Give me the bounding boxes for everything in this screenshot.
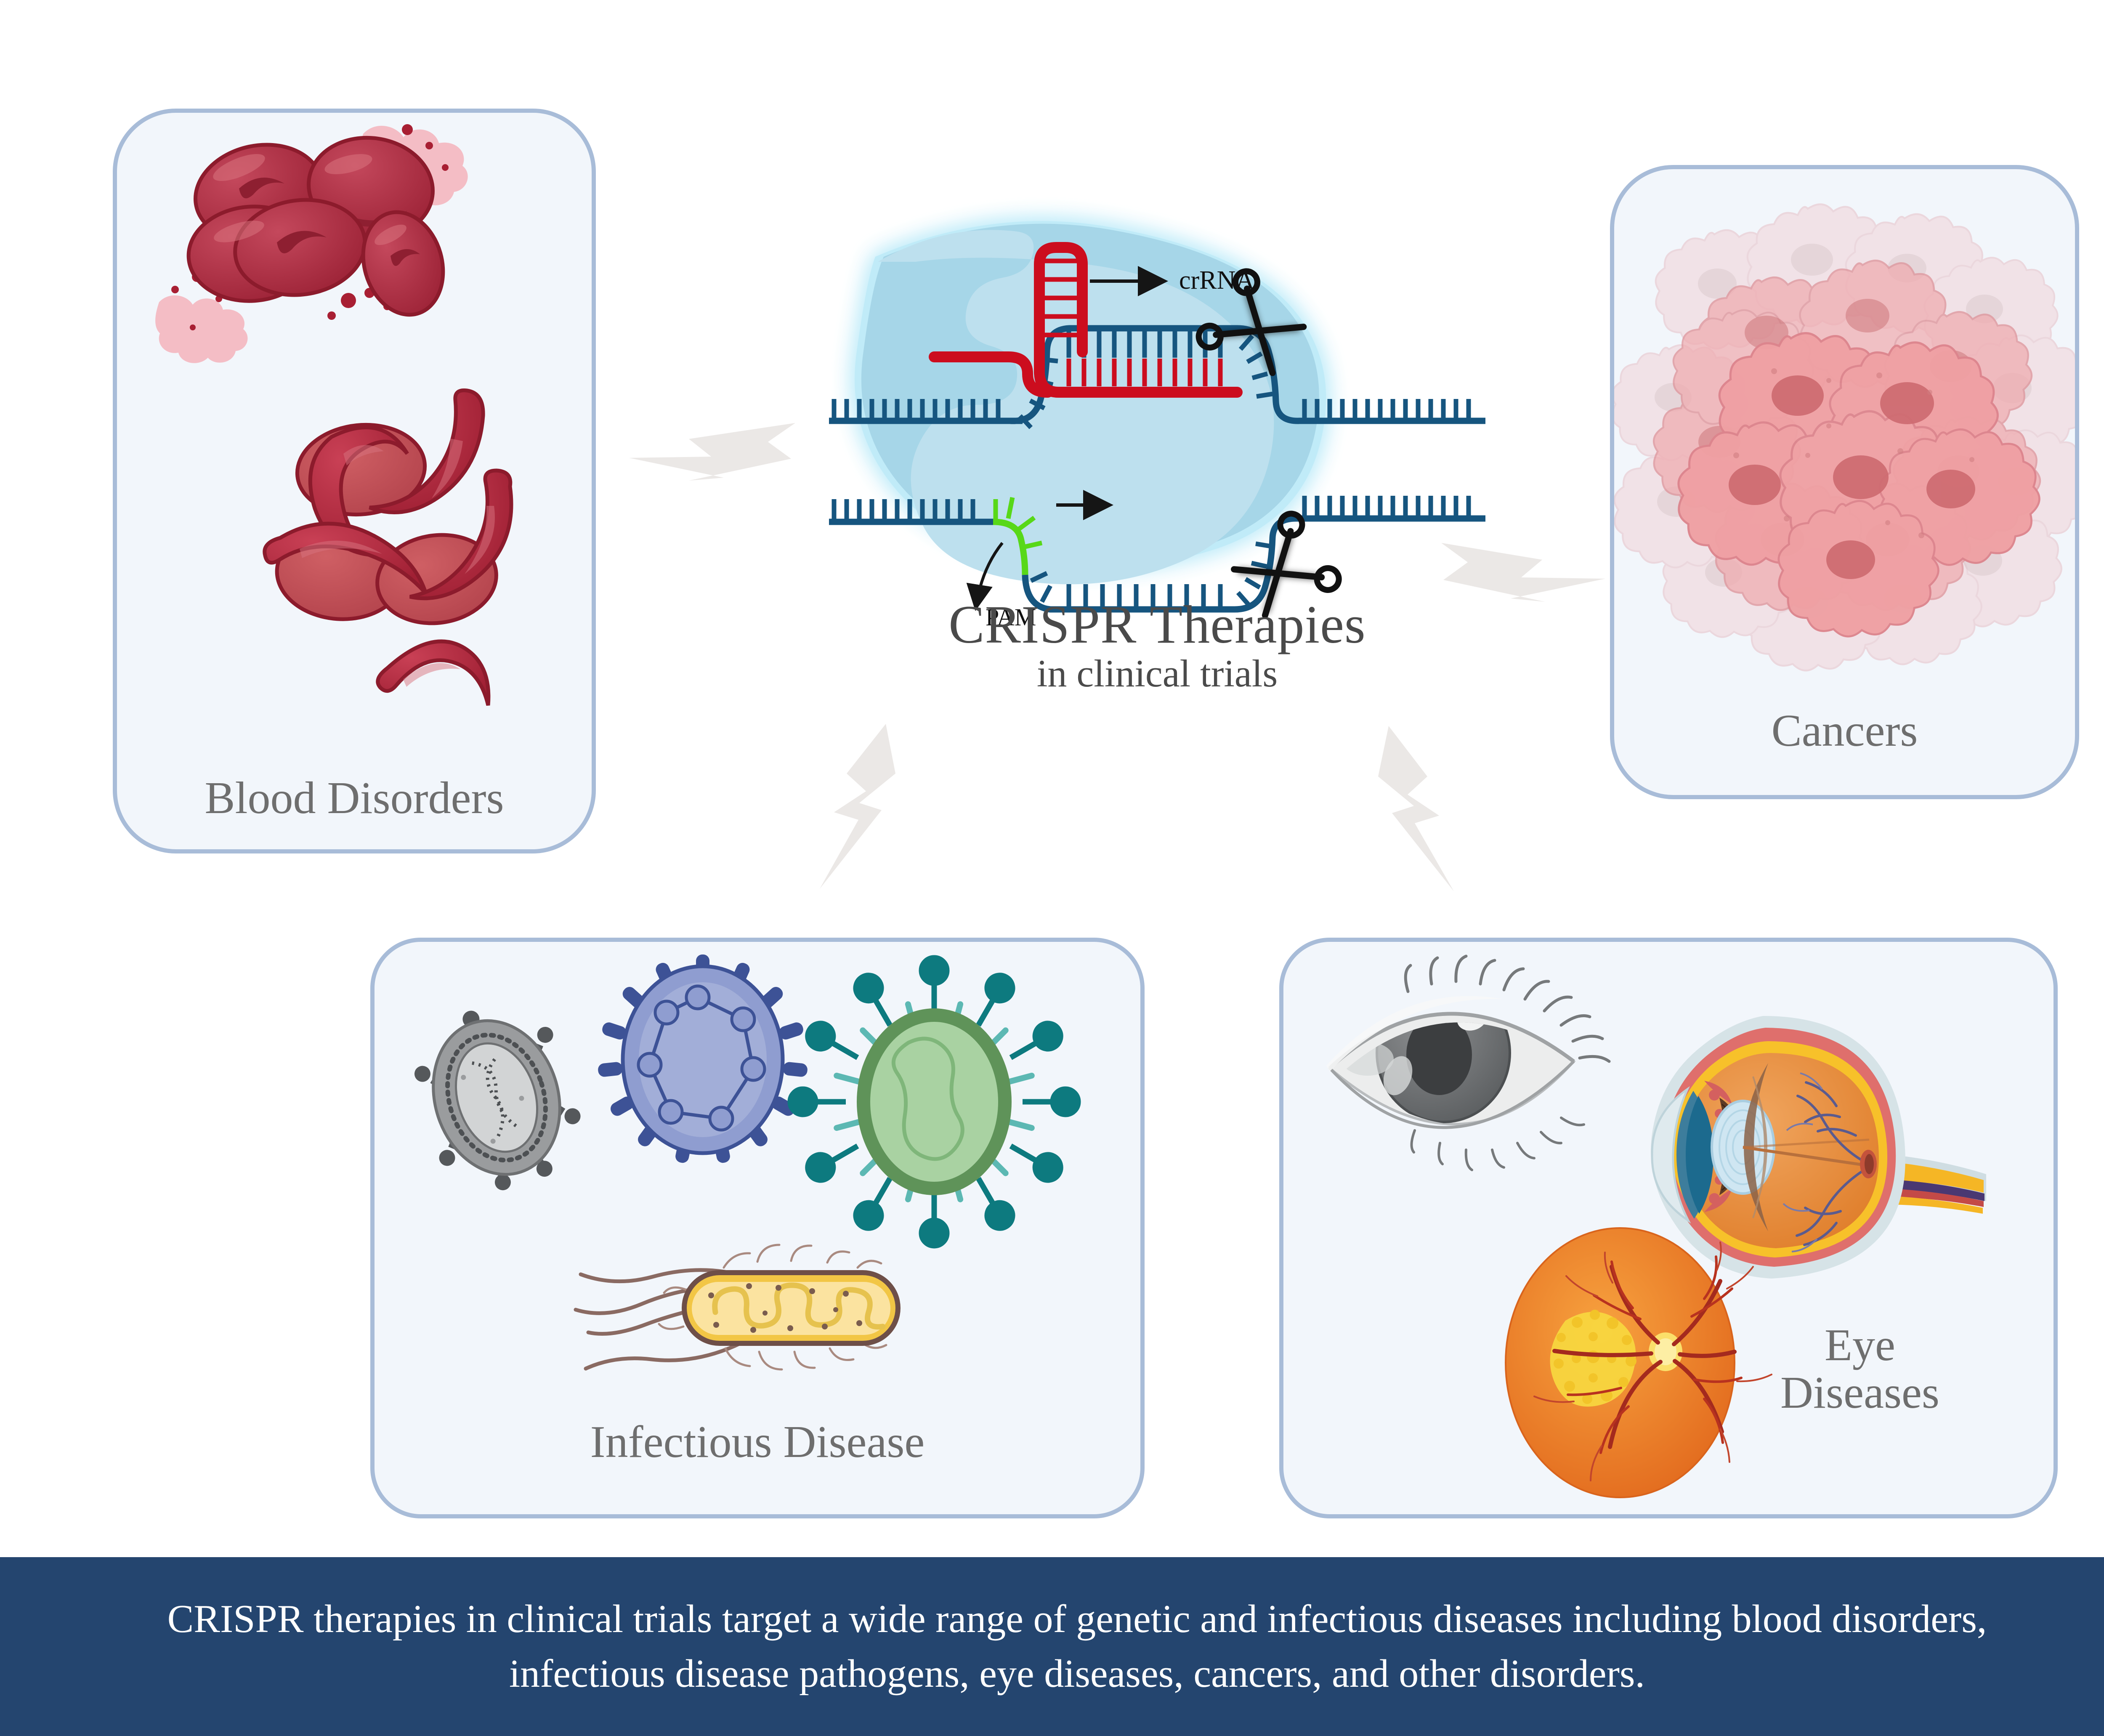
sickle-cell bbox=[378, 641, 489, 705]
bolt-to-eye-icon bbox=[1378, 726, 1454, 891]
panel-label-eye-diseases: Eye Diseases bbox=[1683, 1321, 2037, 1417]
tumor-cell-nucleus bbox=[1833, 455, 1889, 499]
illustration-canvas: Blood Disorders bbox=[0, 0, 2104, 1736]
hiv-virion-icon bbox=[398, 988, 595, 1207]
tumor-cell-nucleus bbox=[1772, 375, 1824, 416]
crispr-mechanism-diagram: crRNA bbox=[812, 210, 1502, 631]
panel-label-blood-disorders: Blood Disorders bbox=[113, 774, 596, 822]
cancers-artwork bbox=[1610, 165, 2079, 799]
tumor-cell-nucleus bbox=[1729, 465, 1781, 505]
panel-label-cancers: Cancers bbox=[1610, 707, 2079, 755]
influenza-virus-icon bbox=[598, 954, 808, 1164]
tumor-cell-nucleus bbox=[1880, 382, 1934, 424]
crispr-title-line2: in clinical trials bbox=[812, 651, 1502, 696]
tumor-cell-nucleus bbox=[1826, 540, 1875, 579]
eye-cross-section-icon bbox=[1651, 1016, 1986, 1279]
flagellated-bacterium-icon bbox=[576, 1245, 901, 1369]
caption-banner: CRISPR therapies in clinical trials targ… bbox=[0, 1557, 2104, 1736]
crispr-title: CRISPR Therapies in clinical trials bbox=[812, 598, 1502, 696]
panel-label-infectious-disease: Infectious Disease bbox=[370, 1418, 1145, 1466]
external-eye-icon bbox=[1326, 956, 1609, 1170]
eye-diseases-artwork bbox=[1279, 938, 2058, 1518]
coronavirus-icon bbox=[790, 958, 1078, 1246]
bolt-to-infect-icon bbox=[820, 724, 895, 889]
bolt-to-blood-icon bbox=[629, 423, 795, 481]
blood-disorders-artwork bbox=[113, 109, 596, 853]
crispr-title-line1: CRISPR Therapies bbox=[812, 598, 1502, 651]
tumor-cell-nucleus bbox=[1926, 470, 1975, 508]
caption-text: CRISPR therapies in clinical trials targ… bbox=[88, 1592, 2066, 1701]
